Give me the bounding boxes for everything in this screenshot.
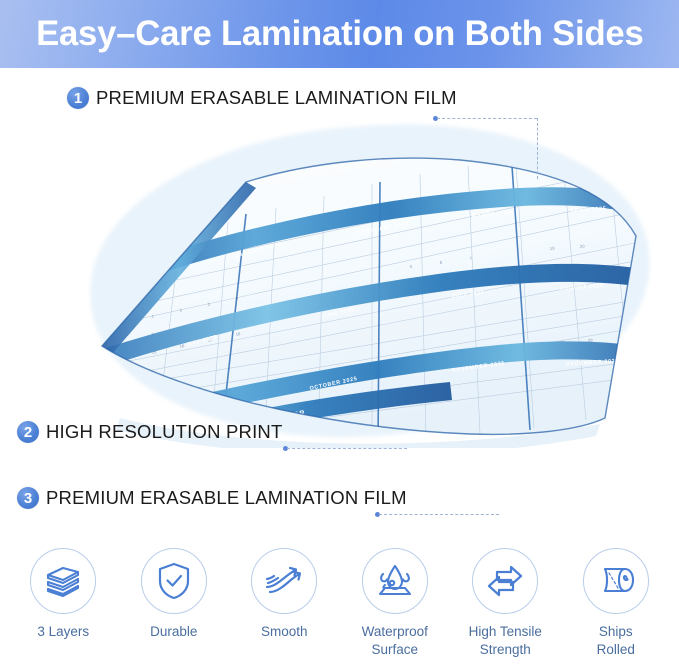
feature-3-layers-label: 3 Layers (37, 623, 89, 641)
feature-ships-rolled-circle (583, 548, 649, 614)
callout-1-label: PREMIUM ERASABLE LAMINATION FILM (96, 87, 457, 109)
airflow-icon (262, 561, 306, 601)
callout-1: 1 PREMIUM ERASABLE LAMINATION FILM (67, 87, 457, 109)
feature-waterproof-label: Waterproof Surface (362, 623, 428, 659)
feature-tensile-strength-label: High Tensile Strength (469, 623, 542, 659)
leader-1-vertical (537, 118, 538, 179)
callout-2-label: HIGH RESOLUTION PRINT (46, 421, 283, 443)
callout-3-badge: 3 (17, 487, 39, 509)
callout-2-badge: 2 (17, 421, 39, 443)
rolled-sheet-icon (594, 561, 638, 601)
wall-calendar-graphic: 1 2 3 4 8 9 10 11 15 16 17 18 5 6 7 12 1 (60, 118, 660, 448)
feature-smooth-circle (251, 548, 317, 614)
shield-check-icon (154, 560, 194, 602)
feature-3-layers-circle (30, 548, 96, 614)
page-title: Easy–Care Lamination on Both Sides (36, 14, 644, 54)
feature-waterproof-circle (362, 548, 428, 614)
feature-tensile-strength: High Tensile Strength (453, 548, 557, 659)
product-illustration: 1 2 3 4 8 9 10 11 15 16 17 18 5 6 7 12 1 (60, 118, 660, 448)
feature-3-layers: 3 Layers (11, 548, 115, 641)
leader-1-horizontal (437, 118, 537, 119)
callout-3: 3 PREMIUM ERASABLE LAMINATION FILM (17, 487, 407, 509)
leader-2-horizontal (287, 448, 407, 449)
feature-durable-circle (141, 548, 207, 614)
feature-durable-label: Durable (150, 623, 197, 641)
water-drop-icon (373, 560, 417, 602)
feature-smooth-label: Smooth (261, 623, 308, 641)
svg-text:23: 23 (199, 399, 205, 405)
callout-3-label: PREMIUM ERASABLE LAMINATION FILM (46, 487, 407, 509)
header-banner: Easy–Care Lamination on Both Sides (0, 0, 679, 68)
feature-ships-rolled: Ships Rolled (564, 548, 668, 659)
double-arrow-icon (483, 561, 527, 601)
svg-text:22: 22 (169, 405, 175, 411)
layers-icon (42, 560, 84, 602)
feature-ships-rolled-label: Ships Rolled (597, 623, 635, 659)
feature-row: 3 Layers Durable (0, 548, 679, 668)
callout-2: 2 HIGH RESOLUTION PRINT (17, 421, 283, 443)
feature-tensile-strength-circle (472, 548, 538, 614)
callout-1-badge: 1 (67, 87, 89, 109)
svg-text:SEPTEMBER 2025: SEPTEMBER 2025 (155, 400, 212, 420)
feature-smooth: Smooth (232, 548, 336, 641)
feature-waterproof: Waterproof Surface (343, 548, 447, 659)
leader-3-horizontal (379, 514, 499, 515)
feature-durable: Durable (122, 548, 226, 641)
